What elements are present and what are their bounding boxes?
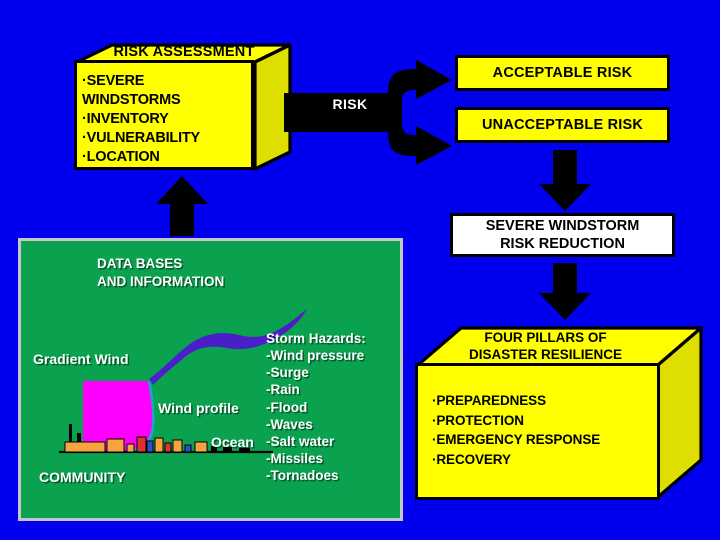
risk-assessment-title: RISK ASSESSMENT <box>94 44 274 60</box>
list-item: ·PROTECTION <box>432 411 662 431</box>
list-item: -Waves <box>266 416 401 433</box>
acceptable-risk-box: ACCEPTABLE RISK <box>455 55 670 91</box>
list-item: -Rain <box>266 381 401 398</box>
four-pillars-title-line-1: FOUR PILLARS OF <box>433 329 658 346</box>
ocean-label: Ocean <box>211 434 254 450</box>
list-item: -Missiles <box>266 450 401 467</box>
databases-panel-title: DATA BASES AND INFORMATION <box>97 255 224 291</box>
storm-hazards-list: Storm Hazards: -Wind pressure -Surge -Ra… <box>266 330 401 485</box>
databases-panel: DATA BASES AND INFORMATION Gradient Wind… <box>18 238 403 521</box>
arrow-down-icon-to-reduction <box>535 150 595 212</box>
four-pillars-box: FOUR PILLARS OF DISASTER RESILIENCE ·PRE… <box>415 325 705 500</box>
list-item: ·PREPAREDNESS <box>432 391 662 411</box>
list-item: -Salt water <box>266 433 401 450</box>
list-item: ·SEVERE <box>82 72 258 91</box>
list-item: ·RECOVERY <box>432 450 662 470</box>
list-item: -Tornadoes <box>266 467 401 484</box>
arrow-up-icon <box>152 176 212 236</box>
storm-hazards-title: Storm Hazards: <box>266 330 401 347</box>
risk-assessment-box: RISK ASSESSMENT ·SEVERE WINDSTORMS ·INVE… <box>74 42 294 172</box>
split-arrow-icon <box>284 60 464 165</box>
risk-reduction-line-2: RISK REDUCTION <box>500 235 625 253</box>
wind-profile-label: Wind profile <box>158 400 239 416</box>
risk-assessment-list: ·SEVERE WINDSTORMS ·INVENTORY ·VULNERABI… <box>82 72 258 167</box>
list-item: ·EMERGENCY RESPONSE <box>432 430 662 450</box>
risk-split-arrow: RISK <box>284 60 464 165</box>
community-label: COMMUNITY <box>39 469 125 485</box>
unacceptable-risk-label: UNACCEPTABLE RISK <box>482 117 643 133</box>
list-item: ·INVENTORY <box>82 110 258 129</box>
gradient-wind-label: Gradient Wind <box>33 351 129 367</box>
storm-hazards-items: -Wind pressure -Surge -Rain -Flood -Wave… <box>266 347 401 485</box>
acceptable-risk-label: ACCEPTABLE RISK <box>493 65 633 81</box>
list-item: ·LOCATION <box>82 148 258 167</box>
list-item: ·VULNERABILITY <box>82 129 258 148</box>
unacceptable-risk-box: UNACCEPTABLE RISK <box>455 107 670 143</box>
list-item: -Flood <box>266 399 401 416</box>
risk-reduction-line-1: SEVERE WINDSTORM <box>486 217 640 235</box>
list-item: -Wind pressure <box>266 347 401 364</box>
four-pillars-title-line-2: DISASTER RESILIENCE <box>433 346 658 363</box>
diagram-canvas: RISK ASSESSMENT ·SEVERE WINDSTORMS ·INVE… <box>0 0 720 540</box>
databases-title-line-2: AND INFORMATION <box>97 273 224 291</box>
four-pillars-title: FOUR PILLARS OF DISASTER RESILIENCE <box>433 329 658 363</box>
four-pillars-list: ·PREPAREDNESS ·PROTECTION ·EMERGENCY RES… <box>432 391 662 469</box>
list-item: -Surge <box>266 364 401 381</box>
risk-reduction-box: SEVERE WINDSTORM RISK REDUCTION <box>450 213 675 257</box>
risk-arrow-label: RISK <box>300 96 400 112</box>
arrow-down-icon-to-pillars <box>535 263 595 321</box>
list-item: WINDSTORMS <box>82 91 258 110</box>
databases-title-line-1: DATA BASES <box>97 255 224 273</box>
